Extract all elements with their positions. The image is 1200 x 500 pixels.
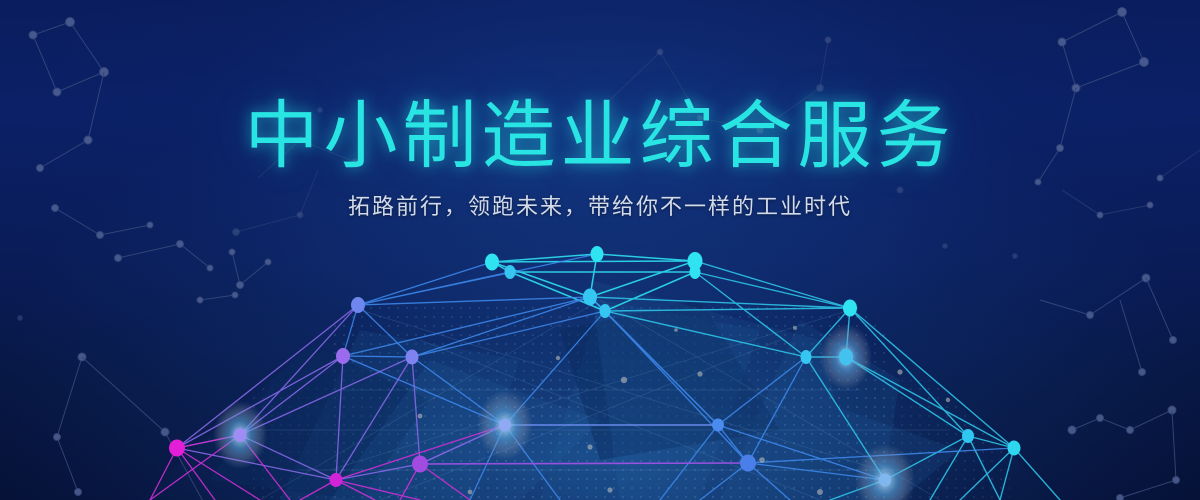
page-title: 中小制造业综合服务 (0, 96, 1200, 176)
hero-banner: 中小制造业综合服务 拓路前行，领跑未来，带给你不一样的工业时代 (0, 0, 1200, 500)
network-sphere-dome (0, 0, 1200, 500)
page-subtitle: 拓路前行，领跑未来，带给你不一样的工业时代 (0, 192, 1200, 222)
hero-text-block: 中小制造业综合服务 拓路前行，领跑未来，带给你不一样的工业时代 (0, 96, 1200, 222)
